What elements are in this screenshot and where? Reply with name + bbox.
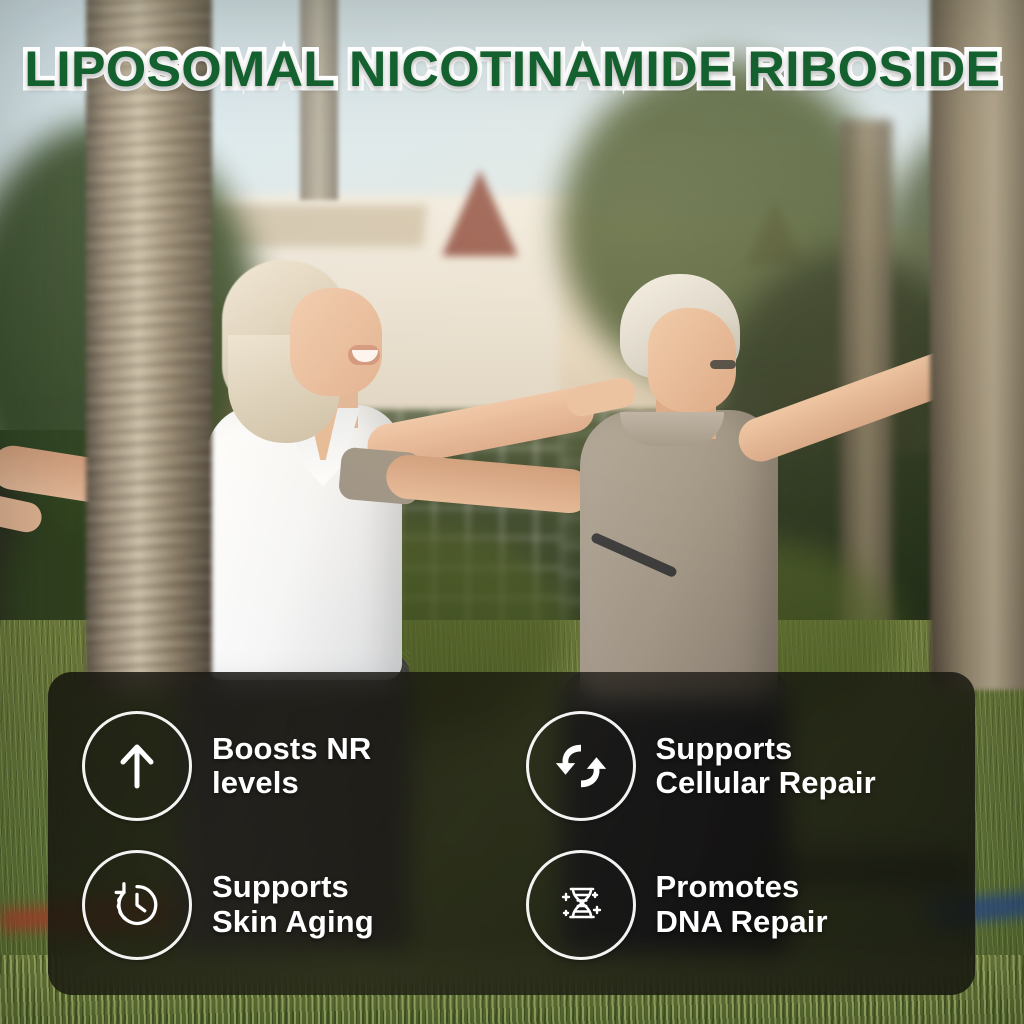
cellular-repair-cycle-icon [526,711,636,821]
feature-label: Promotes DNA Repair [656,870,828,939]
page-title: LIPOSOMAL NICOTINAMIDE RIBOSIDE [24,44,1000,94]
features-card: Boosts NR levels Supports Cellular Repai… [48,672,975,995]
feature-label: Boosts NR levels [212,732,371,801]
feature-item: Boosts NR levels [82,700,512,833]
arrow-up-icon [82,711,192,821]
title-container: LIPOSOMAL NICOTINAMIDE RIBOSIDE [0,44,1024,94]
product-banner: LIPOSOMAL NICOTINAMIDE RIBOSIDE Boosts N… [0,0,1024,1024]
feature-item: Supports Skin Aging [82,839,512,972]
feature-item: Supports Cellular Repair [526,700,956,833]
dna-helix-icon [526,850,636,960]
feature-label: Supports Skin Aging [212,870,374,939]
feature-label: Supports Cellular Repair [656,732,876,801]
clock-history-icon [82,850,192,960]
feature-item: Promotes DNA Repair [526,839,956,972]
